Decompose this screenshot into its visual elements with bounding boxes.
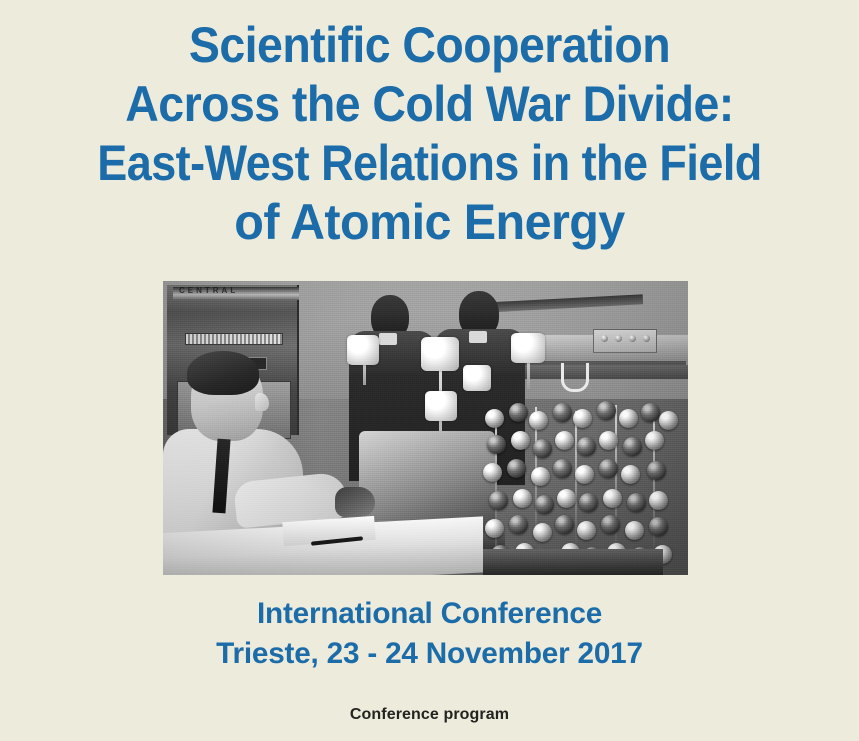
photo-crystal-specimen (347, 335, 379, 365)
photo-crystal-specimen (463, 365, 491, 391)
subtitle-line-event: International Conference (4, 594, 854, 634)
photo-knob (601, 335, 608, 342)
subtitle-line-location-dates: Trieste, 23 - 24 November 2017 (4, 634, 854, 674)
photo-seated-scientist-hair (187, 351, 259, 395)
photo-crystal-specimen (511, 333, 545, 363)
photo-seated-scientist-hand (335, 487, 375, 517)
photo-standing-man-collar (379, 333, 397, 345)
photo-standing-man-collar (469, 331, 487, 343)
photo-crystal-specimen (425, 391, 457, 421)
photo-crystal-specimen (421, 337, 459, 371)
page-title: Scientific Cooperation Across the Cold W… (0, 16, 859, 252)
photo-canvas: CENTRAL (163, 281, 688, 575)
photo-knob (615, 335, 622, 342)
photo-knob (629, 335, 636, 342)
photo-knob (643, 335, 650, 342)
conference-photo: CENTRAL (163, 281, 688, 575)
photo-instrument-disc (389, 449, 461, 491)
conference-program-label: Conference program (0, 706, 859, 724)
photo-cabinet-label: CENTRAL (179, 286, 291, 296)
photo-hanging-hook (561, 363, 589, 392)
title-line-4: of Atomic Energy (13, 193, 846, 252)
photo-seated-scientist-face (255, 393, 269, 411)
title-line-2: Across the Cold War Divide: (30, 75, 829, 134)
photo-lattice-tray (483, 549, 663, 575)
conference-poster: Scientific Cooperation Across the Cold W… (0, 0, 859, 741)
conference-subtitle: International Conference Trieste, 23 - 2… (0, 594, 859, 674)
photo-cabinet-dial (185, 333, 283, 345)
title-line-3: East-West Relations in the Field (43, 134, 816, 193)
title-line-1: Scientific Cooperation (30, 16, 829, 75)
photo-crystal-lattice-model (481, 401, 677, 571)
